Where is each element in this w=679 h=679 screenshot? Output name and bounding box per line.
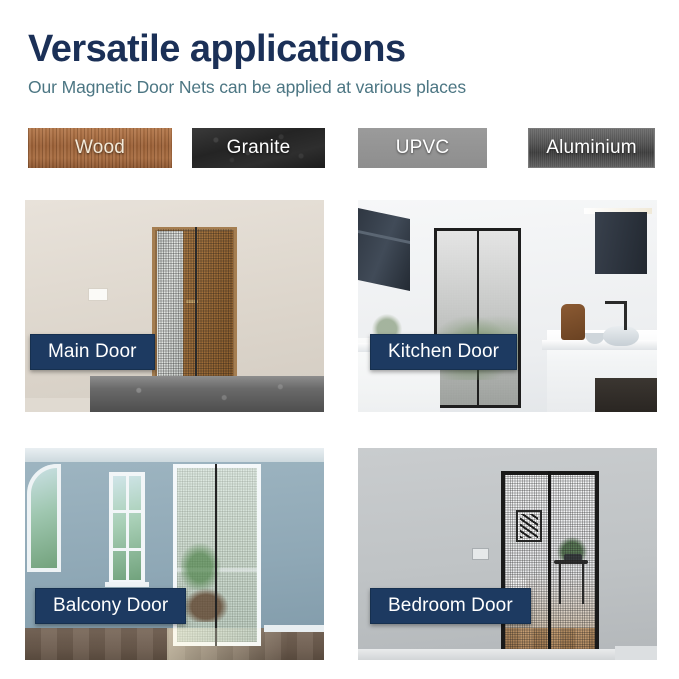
- granite-step: [90, 376, 324, 412]
- panel-bedroom-door: Bedroom Door: [358, 448, 657, 660]
- upper-cabinet: [595, 212, 647, 274]
- baseboard: [358, 649, 657, 660]
- mesh-center-seam: [195, 227, 197, 382]
- panel-main-door: Main Door: [25, 200, 324, 412]
- window-mullion: [126, 472, 129, 584]
- panel-label-text: Balcony Door: [53, 595, 168, 617]
- mesh-center-seam: [548, 471, 551, 656]
- faucet-spout: [605, 301, 627, 304]
- faucet-icon: [624, 302, 627, 330]
- panel-balcony-door: Balcony Door: [25, 448, 324, 660]
- baseboard: [264, 625, 324, 632]
- bedroom-door-photo: [358, 448, 657, 660]
- window-sill: [105, 582, 149, 587]
- right-dark-cabinet: [595, 378, 657, 412]
- panel-kitchen-door: Kitchen Door: [358, 200, 657, 412]
- panel-label-text: Bedroom Door: [388, 595, 513, 617]
- cutting-board-icon: [561, 304, 585, 340]
- balcony-door-photo: [25, 448, 324, 660]
- panel-label-kitchen-door: Kitchen Door: [370, 334, 517, 370]
- panel-label-main-door: Main Door: [30, 334, 155, 370]
- infographic-page: Versatile applications Our Magnetic Door…: [0, 0, 679, 679]
- sink-basin: [603, 326, 639, 346]
- wall-shelf: [358, 208, 410, 291]
- arched-window: [27, 464, 61, 572]
- panel-label-text: Kitchen Door: [388, 341, 499, 363]
- wicker-chair-icon: [183, 588, 229, 622]
- application-photo-grid: Main Door: [0, 0, 679, 679]
- panel-label-text: Main Door: [48, 341, 137, 363]
- kitchen-door-photo: [358, 200, 657, 412]
- ceiling: [25, 448, 324, 462]
- main-door-photo: [25, 200, 324, 412]
- sunlight-patch: [167, 628, 287, 660]
- panel-label-balcony-door: Balcony Door: [35, 588, 186, 624]
- mesh-center-seam: [215, 464, 217, 646]
- panel-label-bedroom-door: Bedroom Door: [370, 588, 531, 624]
- window-mullion: [109, 510, 145, 513]
- window-mullion: [109, 548, 145, 551]
- light-switch-icon: [472, 548, 489, 560]
- light-switch-icon: [88, 288, 108, 301]
- baseboard-right: [615, 646, 657, 660]
